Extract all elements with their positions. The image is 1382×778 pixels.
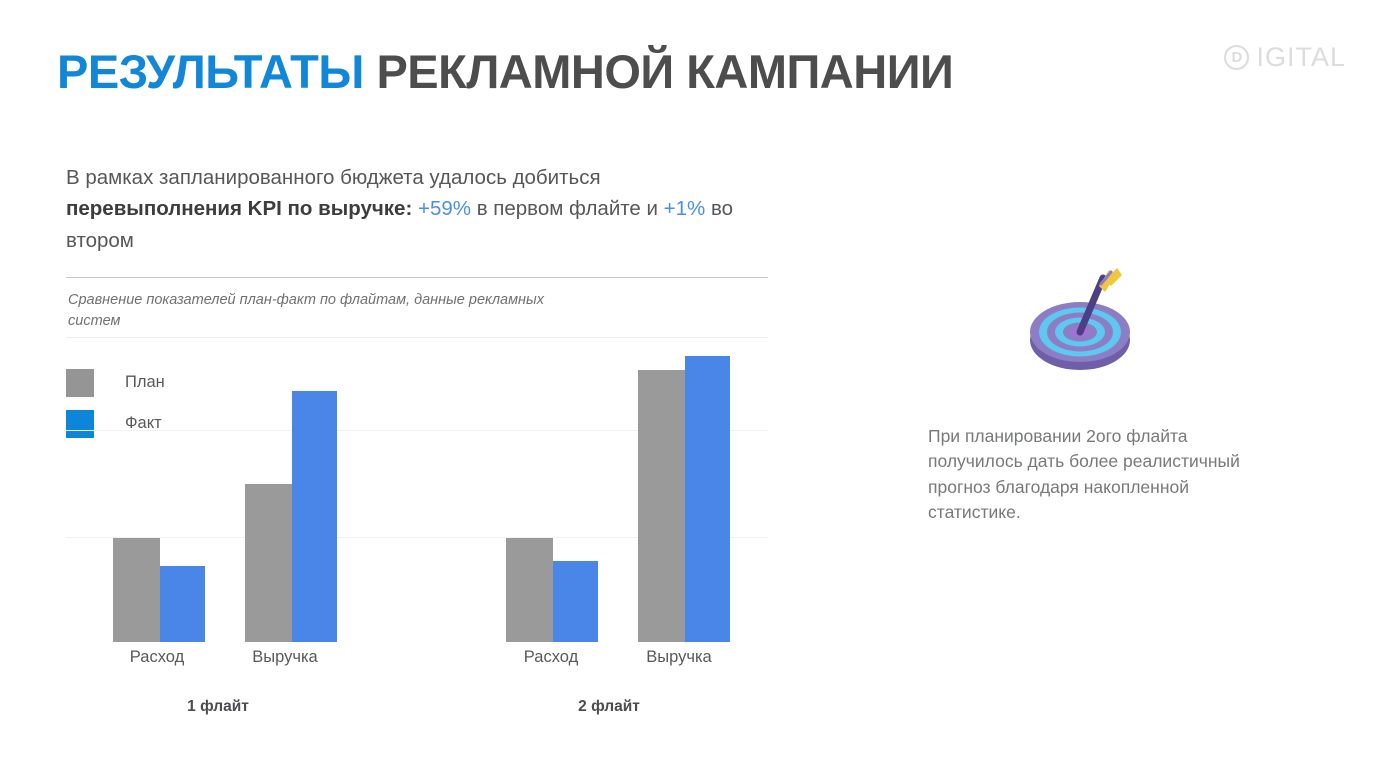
chart-group-label: 2 флайт xyxy=(578,698,640,716)
chart-group-labels: 1 флайт2 флайт xyxy=(66,698,768,720)
divider-top xyxy=(66,277,768,278)
page-title-accent: РЕЗУЛЬТАТЫ xyxy=(57,45,364,98)
chart-category-labels: РасходВыручкаРасходВыручка xyxy=(66,648,768,670)
chart-bar-flight2-plan-rashod xyxy=(506,538,553,642)
chart-bar-flight1-fact-rashod xyxy=(160,566,205,642)
legend-item-plan: План xyxy=(66,362,165,403)
lead-highlight-1: +59% xyxy=(418,197,471,220)
target-dartboard-icon xyxy=(1025,268,1141,378)
legend-item-fact: Факт xyxy=(66,403,165,444)
side-note: При планировании 2ого флайта получилось … xyxy=(928,424,1258,526)
chart-bar-flight1-fact-vyruchka xyxy=(292,391,337,642)
chart-category-label: Расход xyxy=(130,648,184,667)
chart-category-label: Выручка xyxy=(252,648,317,667)
chart-category-label: Расход xyxy=(524,648,578,667)
divider-chart-top xyxy=(66,337,768,338)
logo-text: IGITAL xyxy=(1256,44,1346,71)
legend-swatch-plan-icon xyxy=(66,369,94,397)
page-title-rest: РЕКЛАМНОЙ КАМПАНИИ xyxy=(364,45,953,98)
chart-legend: План Факт xyxy=(66,362,165,444)
chart-bar-flight1-plan-rashod xyxy=(113,538,160,642)
legend-swatch-fact-icon xyxy=(66,410,94,438)
lead-bold: перевыполнения KPI по выручке: xyxy=(66,197,412,220)
chart-bar-flight1-plan-vyruchka xyxy=(245,484,292,642)
logo-d-icon: D xyxy=(1224,45,1249,70)
chart-group-label: 1 флайт xyxy=(187,698,249,716)
chart-bar-flight2-plan-vyruchka xyxy=(638,370,685,642)
lead-line1: В рамках запланированного бюджета удалос… xyxy=(66,166,601,189)
chart-bar-flight2-fact-vyruchka xyxy=(685,356,730,642)
legend-label-plan: План xyxy=(125,373,165,392)
chart-category-label: Выручка xyxy=(646,648,711,667)
lead-paragraph: В рамках запланированного бюджета удалос… xyxy=(66,162,766,256)
bar-chart: План Факт xyxy=(66,340,768,642)
page-title: РЕЗУЛЬТАТЫ РЕКЛАМНОЙ КАМПАНИИ xyxy=(57,48,953,95)
lead-mid: в первом флайте и xyxy=(471,197,664,220)
logo: D IGITAL xyxy=(1224,44,1346,71)
lead-highlight-2: +1% xyxy=(664,197,706,220)
chart-caption: Сравнение показателей план-факт по флайт… xyxy=(68,290,588,331)
chart-bar-flight2-fact-rashod xyxy=(553,561,598,642)
